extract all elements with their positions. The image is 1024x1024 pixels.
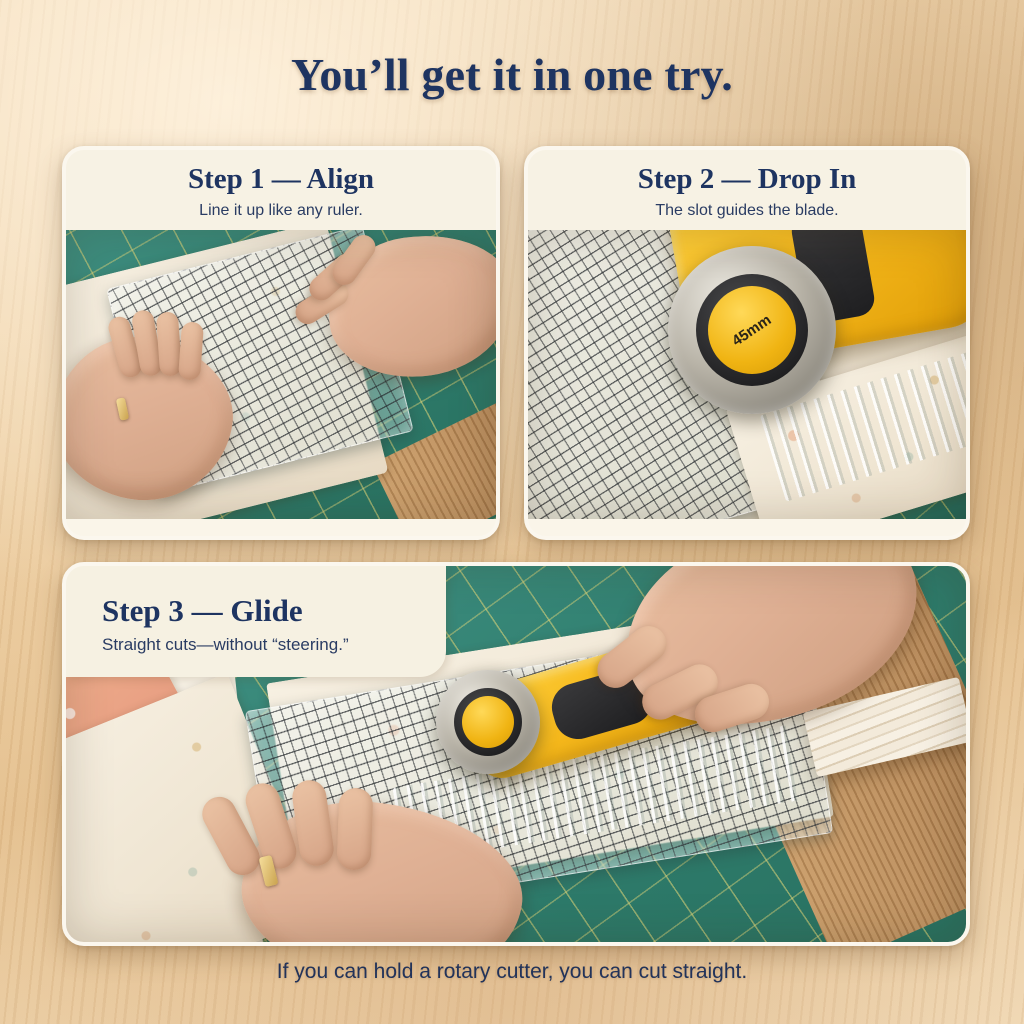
step-2-subtitle: The slot guides the blade. [544, 201, 950, 220]
blade-hub [462, 696, 514, 748]
step-1-subtitle: Line it up like any ruler. [82, 201, 480, 220]
step-3-photo: Step 3 — Glide Straight cuts—without “st… [66, 566, 966, 942]
step-3-subtitle: Straight cuts—without “steering.” [102, 635, 412, 655]
finger [337, 787, 374, 870]
step-card-1: Step 1 — Align Line it up like any ruler… [62, 146, 500, 540]
footer-caption: If you can hold a rotary cutter, you can… [0, 960, 1024, 984]
page-title: You’ll get it in one try. [0, 48, 1024, 101]
step-card-2: Step 2 — Drop In The slot guides the bla… [524, 146, 970, 540]
step-1-photo [66, 230, 496, 519]
step-3-title: Step 3 — Glide [102, 594, 412, 628]
poster-canvas: You’ll get it in one try. Step 1 — Align… [0, 0, 1024, 1024]
step-1-title: Step 1 — Align [82, 164, 480, 196]
step-3-header: Step 3 — Glide Straight cuts—without “st… [66, 566, 446, 677]
blade-size-label: 45mm [729, 311, 774, 349]
step-2-header: Step 2 — Drop In The slot guides the bla… [528, 150, 966, 230]
step-2-photo: 45mm [528, 230, 966, 519]
step-1-header: Step 1 — Align Line it up like any ruler… [66, 150, 496, 230]
step-card-3: Step 3 — Glide Straight cuts—without “st… [62, 562, 970, 946]
step-2-title: Step 2 — Drop In [544, 164, 950, 196]
finger [178, 321, 204, 380]
blade-hub: 45mm [708, 286, 796, 374]
